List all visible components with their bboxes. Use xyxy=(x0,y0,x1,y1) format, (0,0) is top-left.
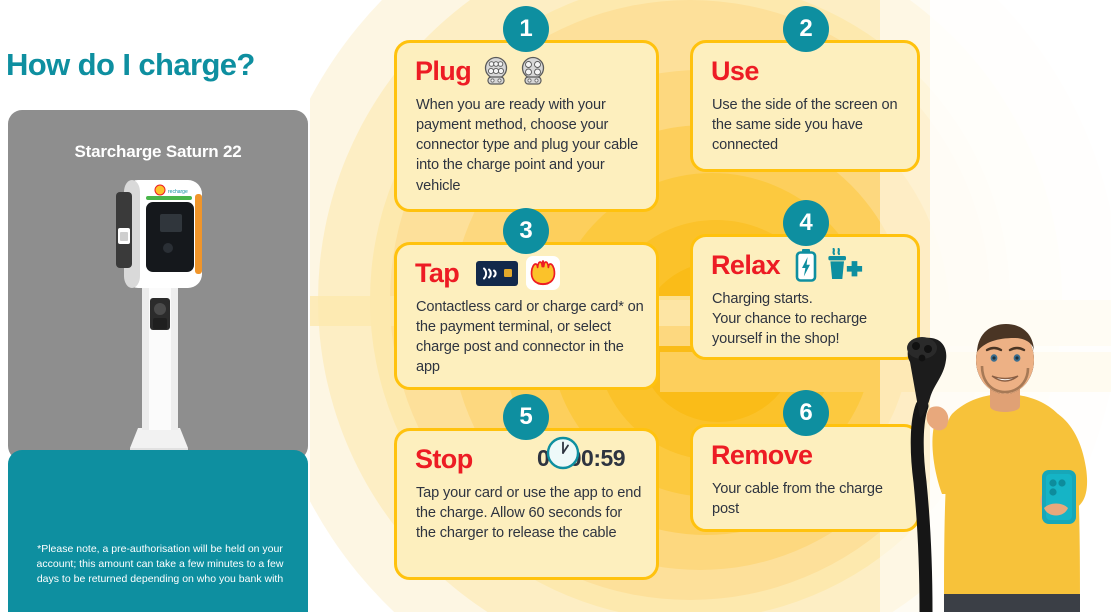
ccs-connector-icon xyxy=(518,56,548,86)
step-badge-2: 2 xyxy=(783,6,829,52)
infographic-canvas: How do I charge? Starcharge Saturn 22 xyxy=(0,0,1111,612)
page-title: How do I charge? xyxy=(6,48,336,82)
step-title-6: Remove xyxy=(711,442,812,469)
person-photo xyxy=(886,322,1111,612)
step-body-3: Contactless card or charge card* on the … xyxy=(416,297,644,378)
step-icons-1 xyxy=(481,56,548,86)
coffee-cup-plus-icon xyxy=(825,248,863,282)
step-header-5: Stop xyxy=(415,439,473,479)
contactless-card-icon xyxy=(475,258,519,288)
step-number-5: 5 xyxy=(519,403,532,431)
step-card-2[interactable]: Use Use the side of the screen on the sa… xyxy=(690,40,920,172)
step-card-5[interactable]: Stop 00:00:59 Tap your card or use the a… xyxy=(394,428,659,580)
step-icons-3 xyxy=(475,256,560,290)
step-card-1[interactable]: Plug xyxy=(394,40,659,212)
step-title-3: Tap xyxy=(415,260,459,287)
step-badge-3: 3 xyxy=(503,208,549,254)
clock-icon xyxy=(545,435,581,471)
footnote-panel: *Please note, a pre-authorisation will b… xyxy=(8,450,308,612)
step-number-2: 2 xyxy=(799,15,812,43)
svg-text:recharge: recharge xyxy=(168,189,188,195)
step-number-3: 3 xyxy=(519,217,532,245)
step-body-1: When you are ready with your payment met… xyxy=(416,95,644,196)
step-header-2: Use xyxy=(711,51,759,91)
step-header-1: Plug xyxy=(415,51,548,91)
step-badge-5: 5 xyxy=(503,394,549,440)
step-number-1: 1 xyxy=(519,15,532,43)
step-badge-6: 6 xyxy=(783,390,829,436)
step-title-1: Plug xyxy=(415,58,471,85)
step-body-4: Charging starts. Your chance to recharge… xyxy=(712,289,905,349)
step-badge-1: 1 xyxy=(503,6,549,52)
step-body-2: Use the side of the screen on the same s… xyxy=(712,95,905,155)
step-number-6: 6 xyxy=(799,399,812,427)
step-title-5: Stop xyxy=(415,446,473,473)
step-title-2: Use xyxy=(711,58,759,85)
step-card-3[interactable]: Tap Contactless card or c xyxy=(394,242,659,390)
step-title-4: Relax xyxy=(711,252,780,279)
footnote-text: *Please note, a pre-authorisation will b… xyxy=(26,542,294,588)
step-badge-4: 4 xyxy=(783,200,829,246)
step-icons-4 xyxy=(794,248,863,282)
step-header-6: Remove xyxy=(711,435,812,475)
charge-post-image: recharge xyxy=(94,170,224,455)
device-name: Starcharge Saturn 22 xyxy=(8,142,308,162)
shell-logo-icon xyxy=(526,256,560,290)
device-panel: Starcharge Saturn 22 xyxy=(8,110,308,460)
step-body-6: Your cable from the charge post xyxy=(712,479,905,519)
step-number-4: 4 xyxy=(799,209,812,237)
type2-connector-icon xyxy=(481,56,511,86)
step-header-4: Relax xyxy=(711,245,863,285)
step-header-3: Tap xyxy=(415,253,560,293)
step-body-5: Tap your card or use the app to end the … xyxy=(416,483,644,543)
battery-charging-icon xyxy=(794,248,818,282)
